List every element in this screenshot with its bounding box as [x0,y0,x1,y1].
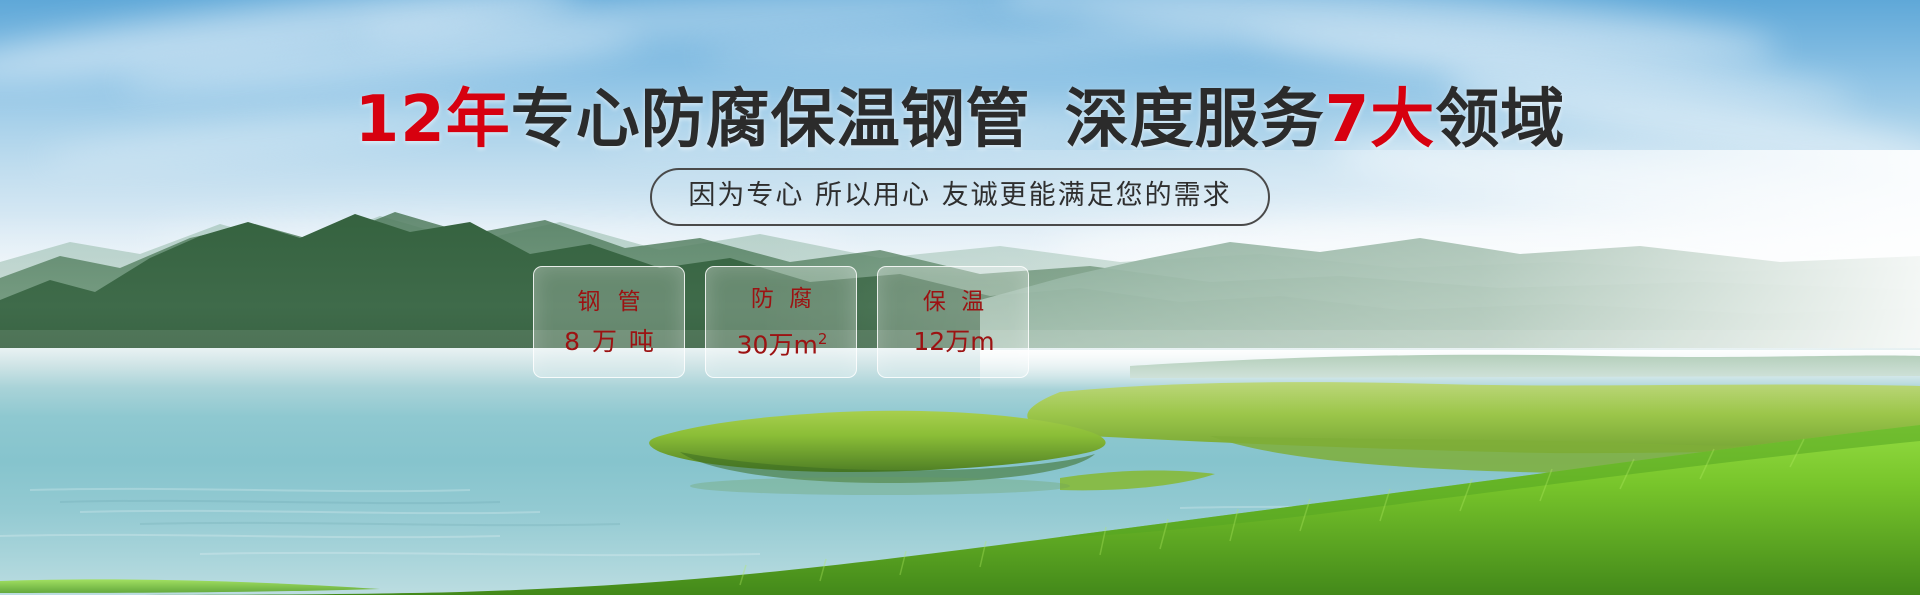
subtitle-container: 因为专心 所以用心 友诚更能满足您的需求 [0,168,1920,226]
stat-value-superscript: 2 [818,330,828,348]
stat-card-value: 8 万 吨 [562,327,656,357]
stat-card-steel-pipe[interactable]: 钢 管 8 万 吨 [533,266,685,378]
headline-seven-fields: 7大 [1325,83,1436,157]
headline-main: 专心防腐保温钢管 [511,83,1031,157]
stat-card-value: 30万m2 [735,324,828,360]
promo-banner: 12年专心防腐保温钢管深度服务7大领域 因为专心 所以用心 友诚更能满足您的需求… [0,0,1920,595]
headline-years: 12年 [355,83,511,157]
stat-value-text: 12万m [913,327,994,356]
foreground-grass [0,405,1920,595]
stat-card-insulation[interactable]: 保 温 12万m [877,266,1029,378]
headline-service: 深度服务 [1065,83,1325,157]
stat-card-label: 钢 管 [572,287,645,317]
page-title: 12年专心防腐保温钢管深度服务7大领域 [0,84,1920,156]
stat-card-group: 钢 管 8 万 吨 防 腐 30万m2 保 温 12万m [533,266,1029,378]
stat-card-label: 保 温 [918,287,988,317]
stat-value-text: 30万m [737,330,818,359]
stat-value-text: 8 万 吨 [564,327,656,356]
subtitle-pill: 因为专心 所以用心 友诚更能满足您的需求 [650,168,1269,226]
stat-card-value: 12万m [911,327,994,357]
stat-card-anticorrosion[interactable]: 防 腐 30万m2 [705,266,857,378]
stat-card-label: 防 腐 [746,284,816,314]
headline-domains: 领域 [1435,83,1565,157]
